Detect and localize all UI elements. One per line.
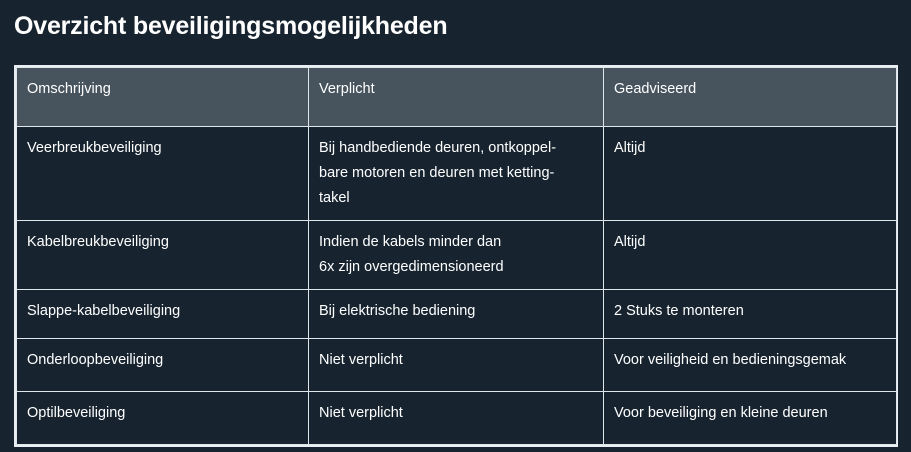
table-row: Onderloopbeveiliging Niet verplicht Voor… [17,338,897,391]
cell-text-line: Niet verplicht [319,348,594,373]
table-row: Optilbeveiliging Niet verplicht Voor bev… [17,391,897,444]
cell-verplicht: Niet verplicht [309,338,604,391]
security-options-table: Omschrijving Verplicht Geadviseerd Veerb… [16,67,897,445]
cell-geadviseerd: Altijd [604,220,897,289]
column-header-geadviseerd: Geadviseerd [604,68,897,127]
column-header-omschrijving: Omschrijving [17,68,309,127]
table-row: Veerbreukbeveiliging Bij handbediende de… [17,127,897,221]
table-body: Veerbreukbeveiliging Bij handbediende de… [17,127,897,445]
cell-omschrijving: Slappe-kabelbeveiliging [17,289,309,338]
page-title: Overzicht beveiligingsmogelijkheden [14,11,447,41]
cell-text-line: Indien de kabels minder dan [319,230,594,255]
cell-verplicht: Bij elektrische bediening [309,289,604,338]
column-header-verplicht: Verplicht [309,68,604,127]
cell-text-line: takel [319,186,594,211]
table-header-row: Omschrijving Verplicht Geadviseerd [17,68,897,127]
cell-omschrijving: Optilbeveiliging [17,391,309,444]
cell-omschrijving: Kabelbreukbeveiliging [17,220,309,289]
cell-text-line: Bij elektrische bediening [319,299,594,324]
cell-verplicht: Indien de kabels minder dan 6x zijn over… [309,220,604,289]
cell-geadviseerd: 2 Stuks te monteren [604,289,897,338]
cell-geadviseerd: Altijd [604,127,897,221]
cell-verplicht: Bij handbediende deuren, ontkoppel- bare… [309,127,604,221]
cell-geadviseerd: Voor veiligheid en bedieningsgemak [604,338,897,391]
cell-text-line: Bij handbediende deuren, ontkoppel- [319,136,594,161]
table-row: Slappe-kabelbeveiliging Bij elektrische … [17,289,897,338]
table-header: Omschrijving Verplicht Geadviseerd [17,68,897,127]
cell-omschrijving: Onderloopbeveiliging [17,338,309,391]
cell-text-line: bare motoren en deuren met ketting- [319,161,594,186]
cell-omschrijving: Veerbreukbeveiliging [17,127,309,221]
cell-text-line: 6x zijn overgedimensioneerd [319,255,594,280]
cell-verplicht: Niet verplicht [309,391,604,444]
cell-geadviseerd: Voor beveiliging en kleine deuren [604,391,897,444]
security-options-table-container: Omschrijving Verplicht Geadviseerd Veerb… [14,65,898,447]
security-overview-page: Overzicht beveiligingsmogelijkheden Omsc… [0,0,911,452]
cell-text-line: Niet verplicht [319,401,594,426]
table-row: Kabelbreukbeveiliging Indien de kabels m… [17,220,897,289]
